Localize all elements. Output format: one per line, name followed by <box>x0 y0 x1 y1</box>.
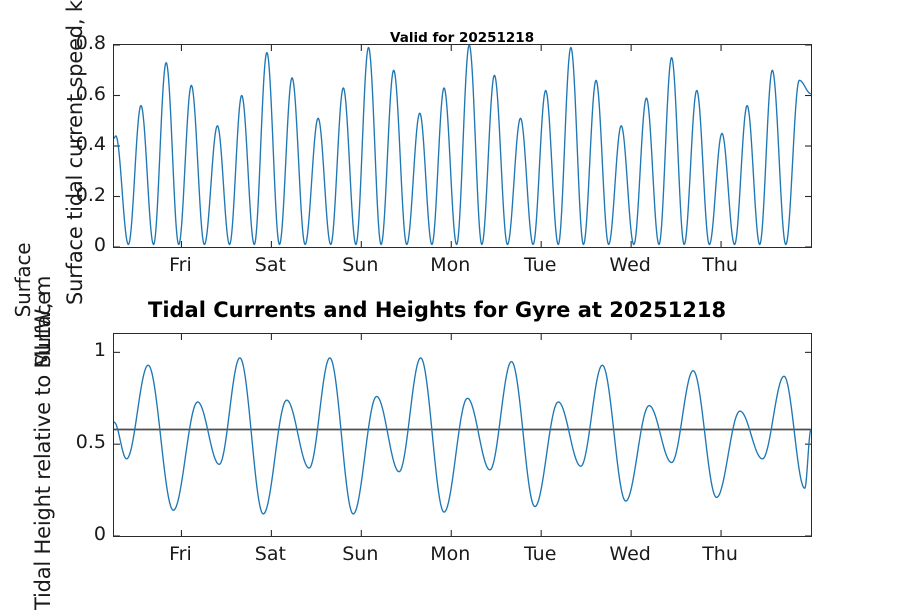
tidal-height-line <box>114 358 811 514</box>
top-chart-xtick-fri: Fri <box>130 254 230 276</box>
bottom-chart-ylabel-overlap: Surface <box>31 250 55 410</box>
bottom-chart-ytick-2: 1 <box>40 339 106 361</box>
top-chart-xtick-sat: Sat <box>220 254 320 276</box>
top-chart-ytick-2: 0.4 <box>40 133 106 155</box>
top-chart-xtick-wed: Wed <box>580 254 680 276</box>
top-chart-ytick-4: 0.8 <box>40 32 106 54</box>
top-chart-xtick-tue: Tue <box>490 254 590 276</box>
top-chart-ytick-3: 0.6 <box>40 83 106 105</box>
bottom-chart-ytick-1: 0.5 <box>40 431 106 453</box>
bottom-chart-svg <box>114 334 811 536</box>
bottom-chart-ytick-0: 0 <box>40 523 106 545</box>
bottom-chart-xtick-wed: Wed <box>580 543 680 565</box>
bottom-chart-xtick-sun: Sun <box>310 543 410 565</box>
top-chart-plot-area <box>113 44 812 248</box>
top-chart-svg <box>114 45 811 247</box>
bottom-chart-xtick-sat: Sat <box>220 543 320 565</box>
bottom-chart-tickmarks <box>114 334 811 536</box>
bottom-chart-xtick-tue: Tue <box>490 543 590 565</box>
tidal-figure: Valid for 20251218 Surface tidal current… <box>0 0 900 600</box>
top-chart-xtick-thu: Thu <box>670 254 770 276</box>
tidal-current-speed-line <box>114 45 811 244</box>
bottom-chart-xtick-fri: Fri <box>130 543 230 565</box>
bottom-chart-plot-area <box>113 333 812 537</box>
bottom-chart-xtick-mon: Mon <box>400 543 500 565</box>
main-chart-title: Tidal Currents and Heights for Gyre at 2… <box>148 298 726 322</box>
bottom-chart-xtick-thu: Thu <box>670 543 770 565</box>
top-chart-xtick-mon: Mon <box>400 254 500 276</box>
top-chart-ytick-1: 0.2 <box>40 184 106 206</box>
top-chart-xtick-sun: Sun <box>310 254 410 276</box>
